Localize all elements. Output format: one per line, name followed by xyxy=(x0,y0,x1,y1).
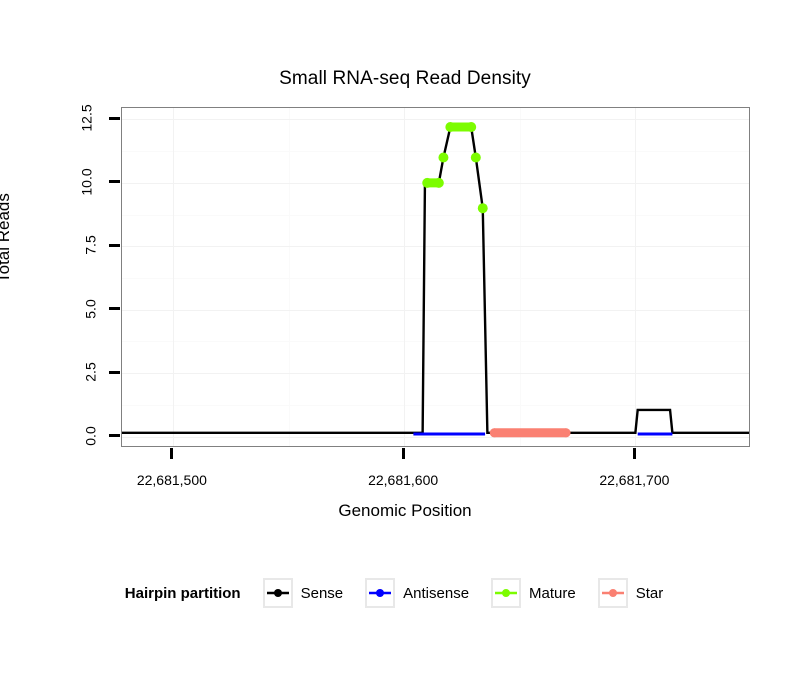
series-point-mature xyxy=(434,178,444,188)
plot-area xyxy=(122,108,749,446)
legend-item-antisense[interactable]: Antisense xyxy=(365,578,485,608)
series-point-star xyxy=(562,428,571,437)
legend-label: Antisense xyxy=(403,585,469,602)
x-tick-mark xyxy=(633,448,636,459)
legend-items: SenseAntisenseMatureStar xyxy=(263,578,686,608)
series-point-star xyxy=(490,428,499,437)
legend-label: Star xyxy=(636,585,664,602)
y-tick-label-wrap: 5.0 xyxy=(0,299,100,319)
y-tick-label: 2.5 xyxy=(82,362,98,381)
legend-title: Hairpin partition xyxy=(125,585,241,602)
y-tick-label: 5.0 xyxy=(82,299,98,318)
x-tick-label: 22,681,600 xyxy=(368,472,438,488)
y-tick-label-wrap: 12.5 xyxy=(0,108,100,128)
series-point-mature xyxy=(466,122,476,132)
y-tick-label: 7.5 xyxy=(82,236,98,255)
x-tick-mark xyxy=(170,448,173,459)
series-point-mature xyxy=(422,178,432,188)
y-tick-mark xyxy=(109,180,120,183)
y-tick-label: 10.0 xyxy=(78,168,94,195)
series-point-mature xyxy=(445,122,455,132)
data-series-layer xyxy=(122,108,749,446)
legend: Hairpin partition SenseAntisenseMatureSt… xyxy=(0,578,810,608)
legend-key-sense xyxy=(263,578,293,608)
x-tick-label: 22,681,500 xyxy=(137,472,207,488)
legend-label: Mature xyxy=(529,585,576,602)
plot-panel xyxy=(121,107,750,447)
y-tick-label: 12.5 xyxy=(78,105,94,132)
y-tick-label-wrap: 0.0 xyxy=(0,426,100,446)
y-tick-label-wrap: 7.5 xyxy=(0,235,100,255)
y-tick-label-wrap: 2.5 xyxy=(0,362,100,382)
legend-label: Sense xyxy=(301,585,344,602)
x-tick-mark xyxy=(402,448,405,459)
series-point-mature xyxy=(478,203,488,213)
legend-item-star[interactable]: Star xyxy=(598,578,680,608)
legend-item-mature[interactable]: Mature xyxy=(491,578,592,608)
legend-key-antisense xyxy=(365,578,395,608)
x-axis-title: Genomic Position xyxy=(0,501,810,521)
y-tick-label: 0.0 xyxy=(82,426,98,445)
y-tick-mark xyxy=(109,434,120,437)
series-point-mature xyxy=(438,152,448,162)
y-tick-mark xyxy=(109,244,120,247)
legend-item-sense[interactable]: Sense xyxy=(263,578,360,608)
series-line-sense xyxy=(122,127,749,433)
legend-key-mature xyxy=(491,578,521,608)
chart-title: Small RNA-seq Read Density xyxy=(0,68,810,90)
chart-root: Small RNA-seq Read Density Total Reads 0… xyxy=(0,0,810,690)
legend-key-star xyxy=(598,578,628,608)
x-tick-label: 22,681,700 xyxy=(599,472,669,488)
y-tick-mark xyxy=(109,117,120,120)
y-tick-mark xyxy=(109,371,120,374)
series-point-mature xyxy=(471,152,481,162)
y-tick-label-wrap: 10.0 xyxy=(0,172,100,192)
y-tick-mark xyxy=(109,307,120,310)
